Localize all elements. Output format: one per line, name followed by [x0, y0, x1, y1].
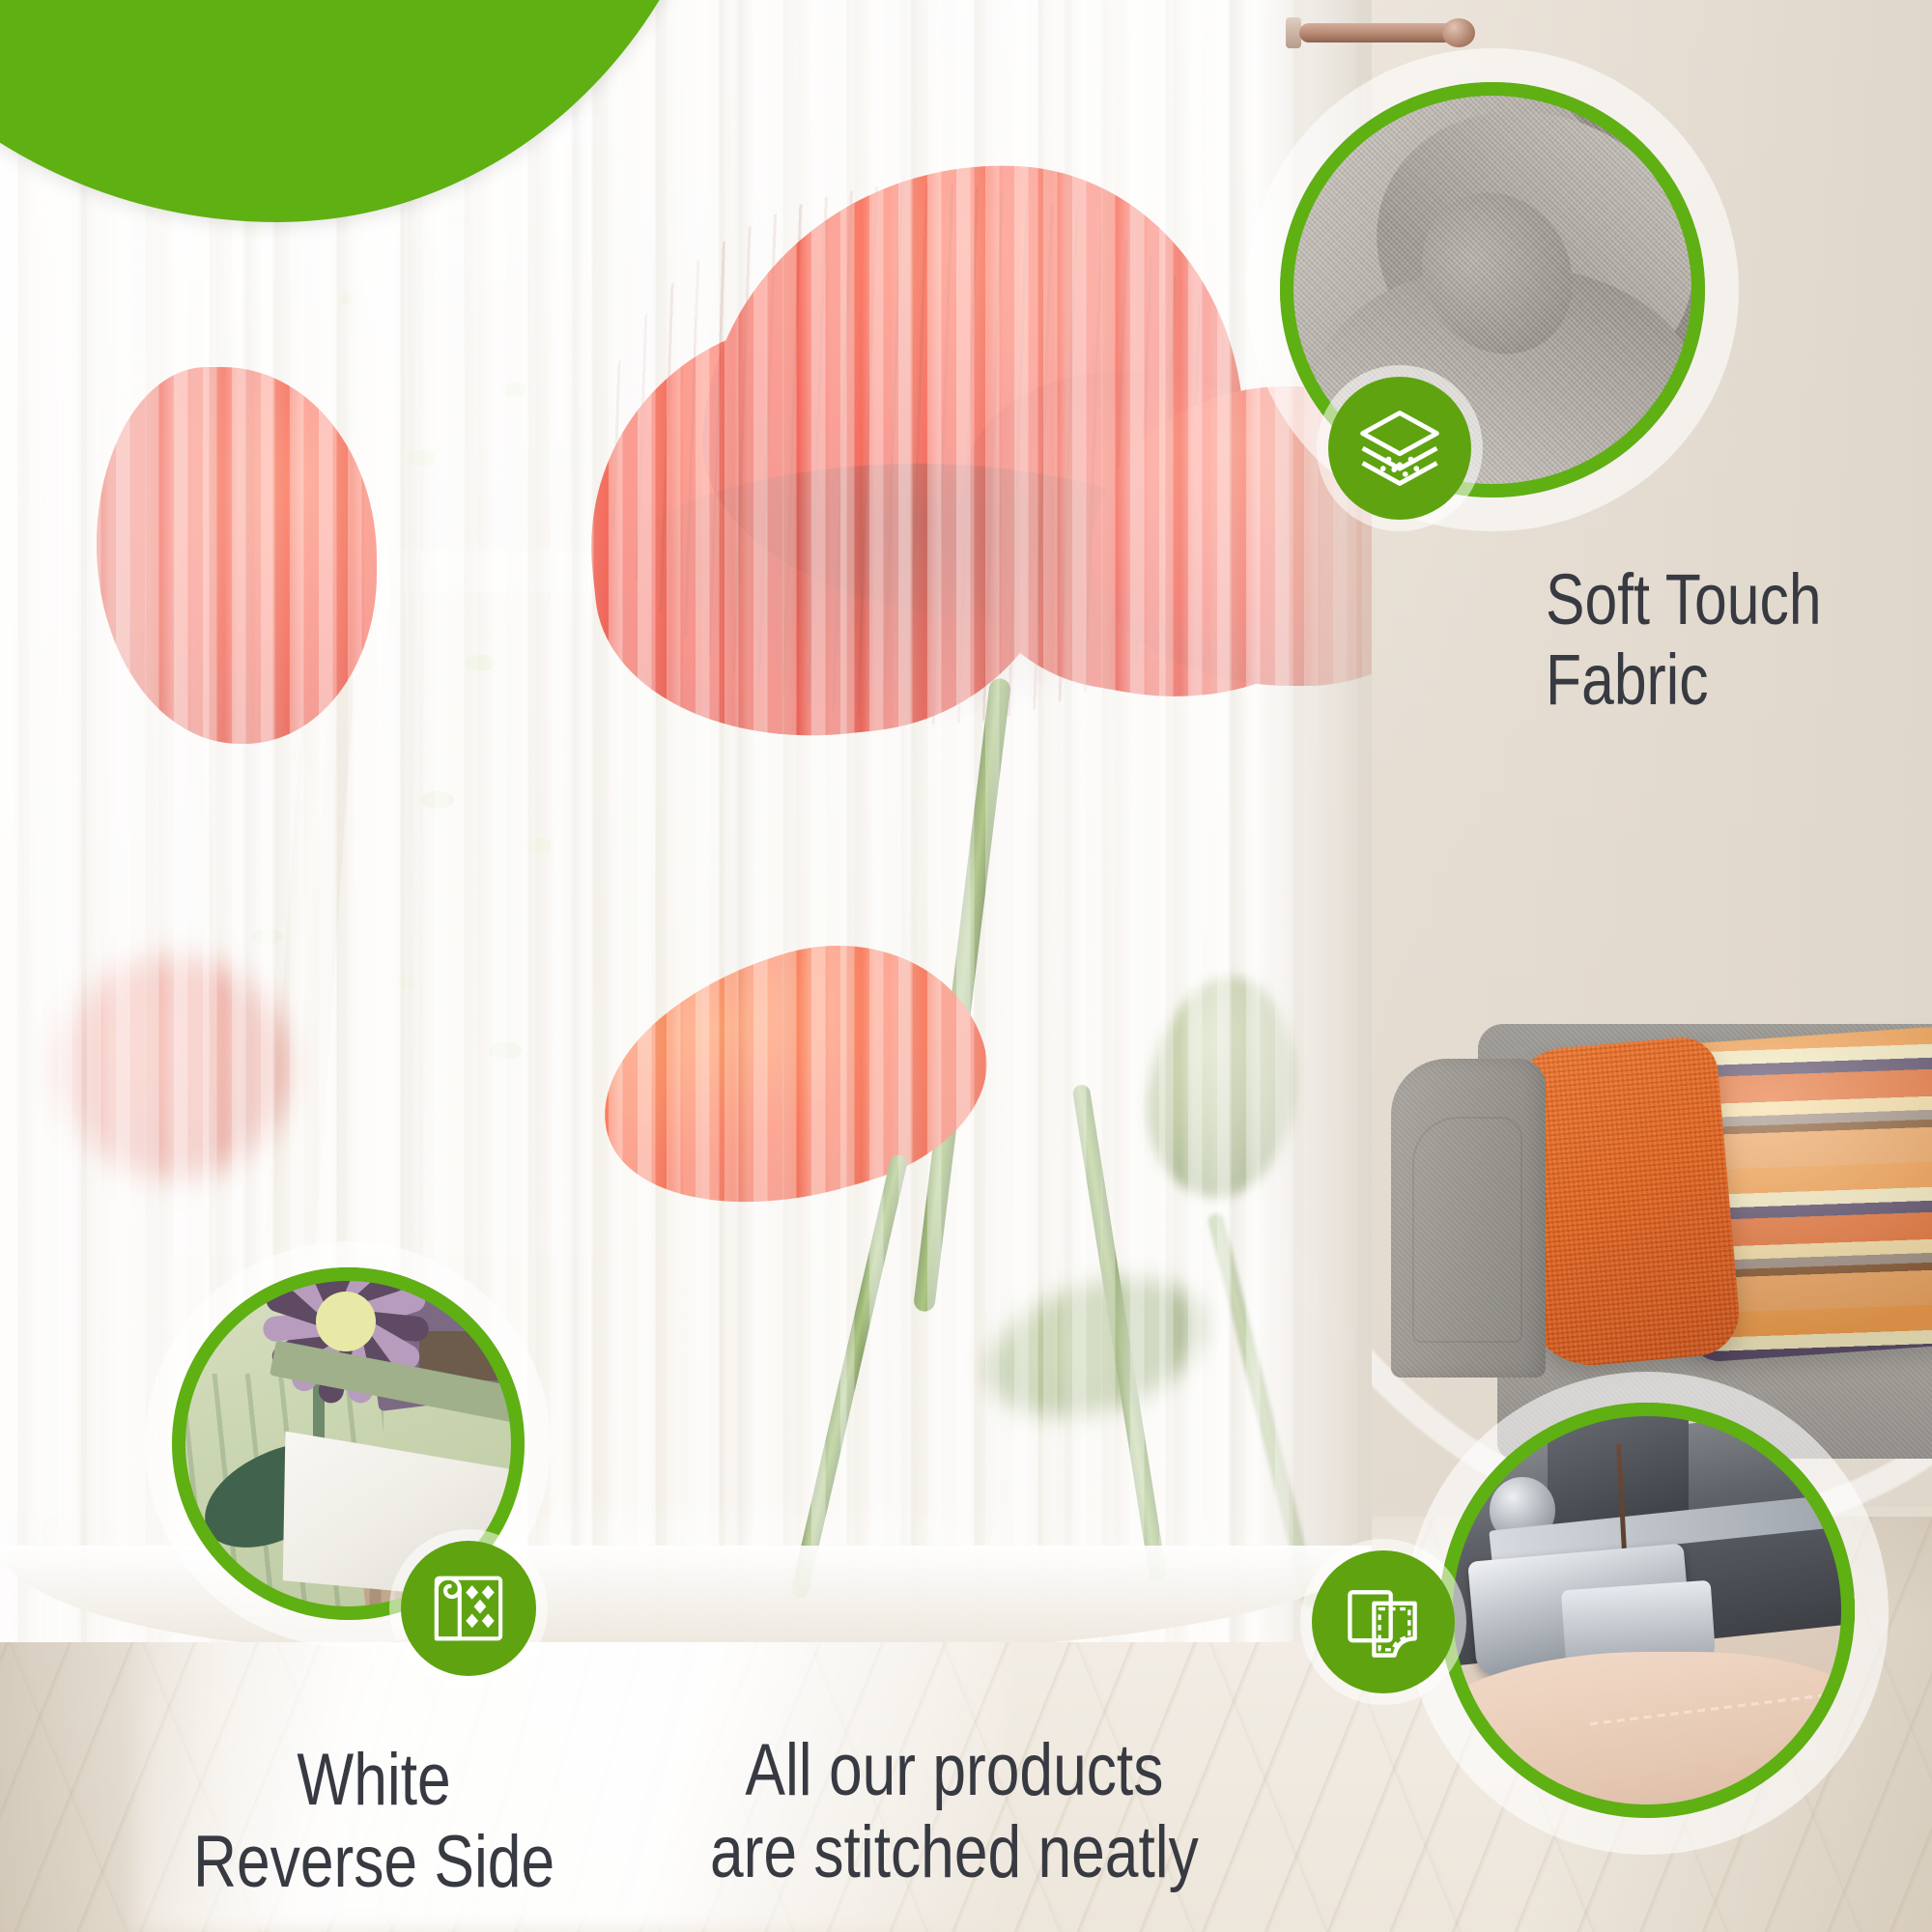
soft-touch-caption: Soft Touch Fabric: [1546, 560, 1822, 721]
fabric-roll-icon: [401, 1541, 536, 1676]
stitched-neatly-caption: All our products are stitched neatly: [710, 1729, 1199, 1893]
fabric-layers-icon: [1328, 377, 1471, 520]
sewing-machine-photo: [1439, 1403, 1855, 1818]
sofa-armrest: [1391, 1059, 1546, 1378]
curtain-rod-finial: [1442, 18, 1475, 47]
curtain-rod: [1299, 15, 1497, 48]
sewing-machine-inset: [1439, 1403, 1855, 1818]
curtain-rod-bar: [1299, 23, 1454, 43]
product-feature-banner: Soft Touch Fabric: [0, 0, 1932, 1932]
white-reverse-caption: White Reverse Side: [193, 1739, 554, 1903]
stitched-panels-icon: [1312, 1550, 1455, 1693]
